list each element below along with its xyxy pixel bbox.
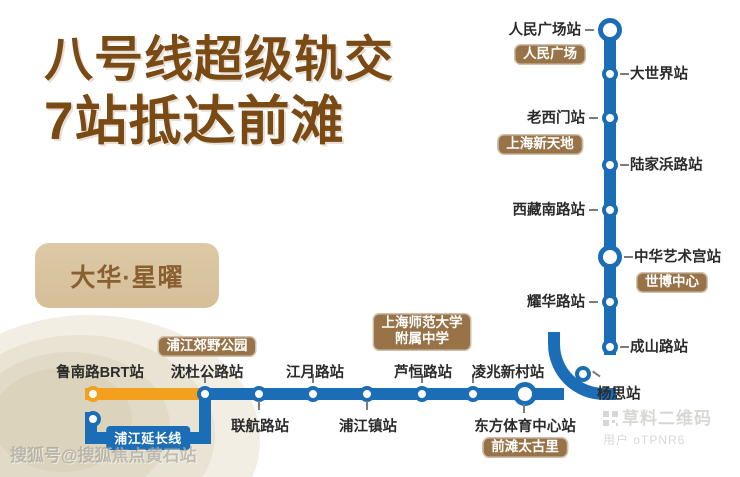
station-label-dashijie: 大世界站 xyxy=(630,63,688,84)
leader-tick xyxy=(589,117,598,119)
station-dot-branch-terminus[interactable] xyxy=(85,411,101,427)
station-label-lingzhao-xincun: 凌兆新村站 xyxy=(472,361,545,382)
poi-badge-line-1: 上海师范大学 xyxy=(382,315,463,330)
leader-tick xyxy=(624,256,633,258)
poi-badge-line-2: 附属中学 xyxy=(395,331,449,346)
poi-badge-shanghai-shifan-fuzhong: 上海师范大学 附属中学 xyxy=(373,313,472,351)
station-dot-lingzhao-xincun[interactable] xyxy=(465,386,481,402)
station-label-yangsi: 杨思站 xyxy=(597,383,641,404)
station-dot-jiangyue-lu[interactable] xyxy=(305,386,321,402)
poi-badge-pujiang-jiaoye-gongyuan: 浦江郊野公园 xyxy=(158,336,257,357)
leader-tick xyxy=(620,164,629,166)
station-label-dongfang-tiyu-zhongxin: 东方体育中心站 xyxy=(474,415,576,436)
station-dot-lunan-lu-brt[interactable] xyxy=(85,386,101,402)
leader-tick xyxy=(620,73,629,75)
qr-code-icon xyxy=(603,411,618,426)
station-label-lujiabang-lu: 陆家浜路站 xyxy=(630,154,703,175)
station-dot-lianhang-lu[interactable] xyxy=(251,386,267,402)
branch-orange-track xyxy=(85,388,205,400)
station-label-jiangyue-lu: 江月路站 xyxy=(286,361,344,382)
station-label-zhonghua-yishugong: 中华艺术宫站 xyxy=(634,246,721,267)
watermark-line-2: 用户 oTPNR6 xyxy=(603,431,712,448)
leader-tick xyxy=(589,301,598,303)
station-label-chengshan-lu: 成山路站 xyxy=(630,336,688,357)
station-dot-laoximen[interactable] xyxy=(602,110,618,126)
metro-line-poster: 八号线超级轨交 7站抵达前滩 大华·星曜 xyxy=(0,0,740,477)
leader-tick xyxy=(620,346,629,348)
station-dot-yaohua-lu[interactable] xyxy=(602,294,618,310)
poi-badge-shibo-zhongxin: 世博中心 xyxy=(636,272,708,293)
leader-tick xyxy=(589,209,598,211)
station-label-renmin-guangchang: 人民广场站 xyxy=(509,19,582,40)
station-label-lunan-lu-brt: 鲁南路BRT站 xyxy=(56,361,144,382)
station-dot-luheng-lu[interactable] xyxy=(414,386,430,402)
leader-tick xyxy=(523,404,525,413)
leader-tick xyxy=(258,401,260,410)
leader-tick xyxy=(366,401,368,410)
station-label-pujiangzhen: 浦江镇站 xyxy=(339,415,397,436)
station-dot-renmin-guangchang[interactable] xyxy=(598,18,622,42)
watermark-sohu: 搜狐号@搜狐焦点黄石站 xyxy=(10,441,197,466)
station-label-laoximen: 老西门站 xyxy=(527,107,585,128)
poi-badge-xintiandi: 上海新天地 xyxy=(497,134,583,155)
station-dot-pujiangzhen[interactable] xyxy=(359,386,375,402)
station-label-lianhang-lu: 联航路站 xyxy=(231,415,289,436)
station-label-shendu-gonglu: 沈杜公路站 xyxy=(171,361,244,382)
station-dot-xizang-nan-lu[interactable] xyxy=(602,202,618,218)
leader-tick xyxy=(585,29,594,31)
station-dot-yangsi[interactable] xyxy=(575,366,591,382)
watermark-line-1: 草料二维码 xyxy=(603,404,712,429)
poi-badge-qiantan-taikooli: 前滩太古里 xyxy=(482,437,568,458)
station-label-yaohua-lu: 耀华路站 xyxy=(527,291,585,312)
poi-badge-renmin-guangchang: 人民广场 xyxy=(514,44,586,65)
station-dot-shendu-gonglu[interactable] xyxy=(197,386,213,402)
station-label-xizang-nan-lu: 西藏南路站 xyxy=(513,199,586,220)
station-dot-lujiabang-lu[interactable] xyxy=(602,157,618,173)
watermark-text-1: 草料二维码 xyxy=(622,409,712,428)
watermark-caoliao: 草料二维码 用户 oTPNR6 xyxy=(603,404,712,448)
station-dot-zhonghua-yishugong[interactable] xyxy=(598,245,622,269)
station-dot-dashijie[interactable] xyxy=(602,66,618,82)
station-label-luheng-lu: 芦恒路站 xyxy=(394,361,452,382)
station-dot-chengshan-lu[interactable] xyxy=(602,339,618,355)
station-dot-dongfang-tiyu-zhongxin[interactable] xyxy=(513,382,537,406)
